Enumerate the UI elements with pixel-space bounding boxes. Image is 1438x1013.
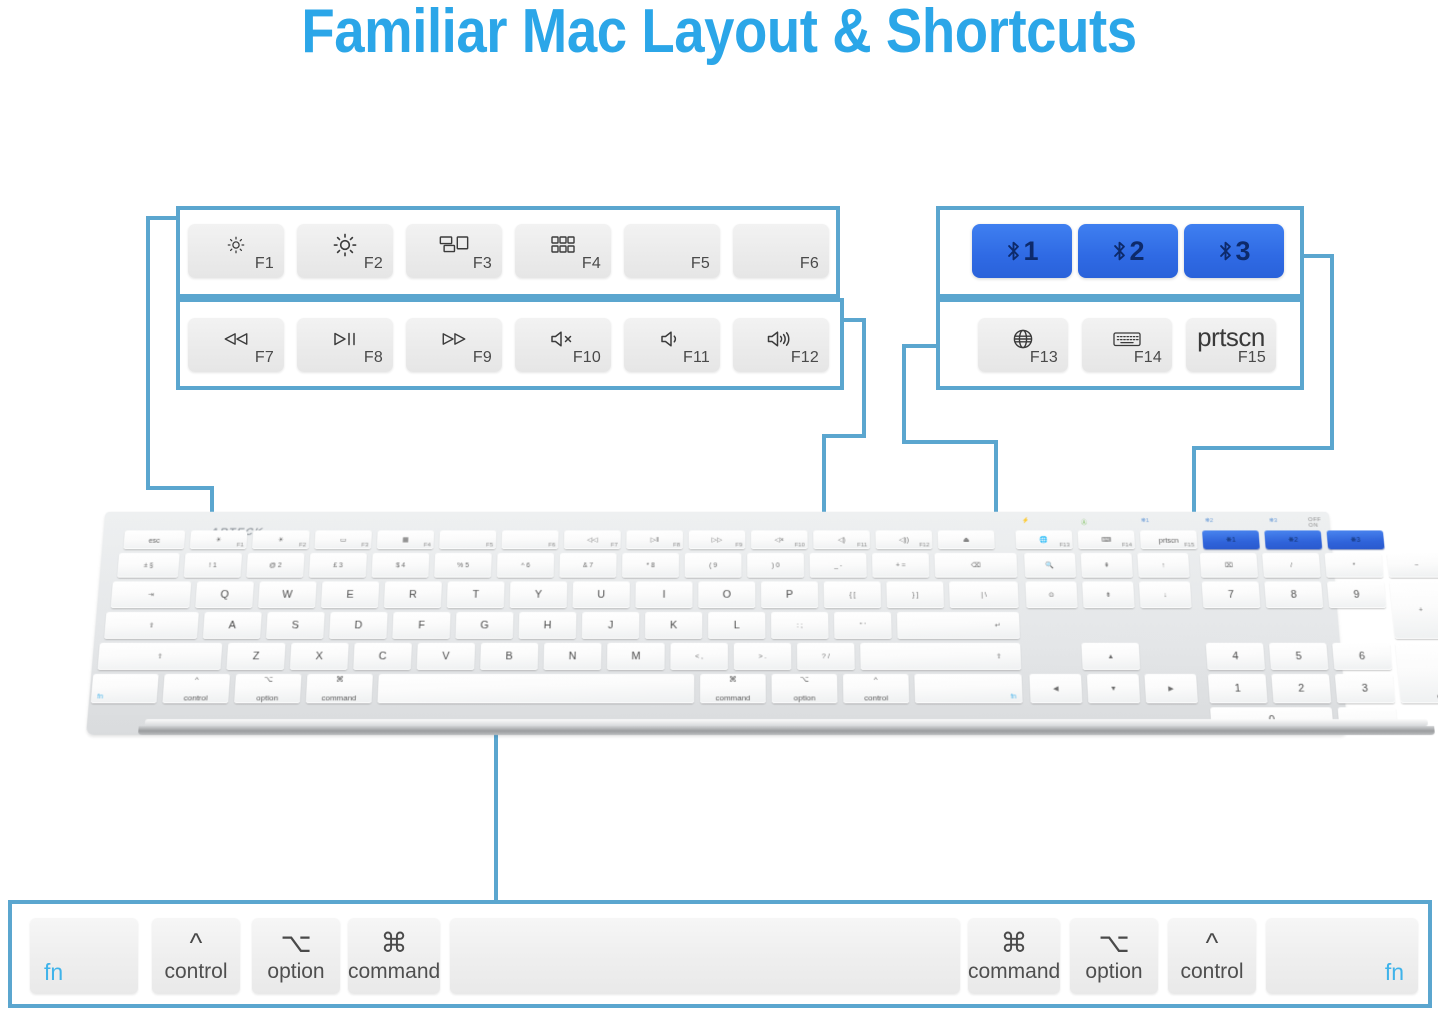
key-bt3-photo[interactable]: ❋3: [1327, 530, 1385, 549]
key-numpad-9[interactable]: 9: [1327, 581, 1386, 608]
bluetooth-icon-2: 2: [1078, 224, 1178, 278]
key-5[interactable]: % 5: [434, 553, 492, 578]
connector-bt-vertical: [1330, 254, 1334, 450]
keyboard-product-image: ARTECK ⚡ Ⓐ ❋1 ❋2 ❋3 OFF ON esc ☀F1 ☀F2 ▭…: [18, 495, 1423, 760]
key-n[interactable]: N: [544, 643, 602, 670]
connector-f13-stub: [902, 344, 940, 348]
key-f14-label: F14: [1134, 349, 1162, 367]
infographic-canvas: Familiar Mac Layout & Shortcuts F1: [0, 0, 1438, 1013]
key-f15-label: F15: [1238, 349, 1266, 367]
key-command-right[interactable]: ⌘ command: [968, 918, 1060, 994]
key-f3-label: F3: [473, 255, 492, 273]
key-f2[interactable]: F2: [297, 224, 393, 278]
key-command-right-label: command: [968, 960, 1060, 984]
key-option-left[interactable]: ⌥ option: [252, 918, 340, 994]
key-control-right-photo[interactable]: ^control: [843, 674, 909, 703]
connector-left-vertical: [146, 216, 150, 490]
key-f5[interactable]: F5: [624, 224, 720, 278]
key-b[interactable]: B: [480, 643, 538, 670]
key-4[interactable]: $ 4: [372, 553, 430, 578]
key-s[interactable]: S: [266, 612, 325, 639]
led-bt2-icon: ❋2: [1199, 517, 1219, 524]
key-backslash[interactable]: | \: [949, 581, 1019, 608]
key-caps-lock[interactable]: ⇪: [104, 612, 199, 639]
key-bracket-left[interactable]: { [: [824, 581, 881, 608]
key-f4-photo[interactable]: ▦F4: [377, 530, 434, 549]
key-h[interactable]: H: [519, 612, 577, 639]
key-f4[interactable]: F4: [515, 224, 611, 278]
key-f2-label: F2: [364, 255, 383, 273]
key-f12-label: F12: [791, 349, 819, 367]
bluetooth-icon-3: 3: [1184, 224, 1284, 278]
key-period[interactable]: > .: [734, 643, 792, 670]
key-semicolon[interactable]: : ;: [771, 612, 828, 639]
key-f6[interactable]: F6: [733, 224, 829, 278]
connector-f13-elbow: [902, 440, 998, 444]
key-option-left-label: option: [252, 960, 340, 984]
key-f11-label: F11: [683, 349, 710, 367]
key-control-left-photo[interactable]: ^control: [162, 674, 230, 703]
keyboard-front-edge-lower: [138, 726, 1435, 735]
key-numpad-4[interactable]: 4: [1206, 643, 1265, 670]
key-f15[interactable]: prtscn F15: [1186, 318, 1276, 372]
key-slash[interactable]: ? /: [797, 643, 855, 670]
key-arrow-down[interactable]: ▼: [1087, 674, 1140, 703]
key-f5-label: F5: [691, 255, 710, 273]
key-option-right-label: option: [1070, 960, 1158, 984]
connector-left-bottom: [146, 486, 214, 490]
key-minus[interactable]: _ -: [810, 553, 867, 578]
callout-bluetooth-keys: 1 2 3: [936, 206, 1304, 298]
page-title: Familiar Mac Layout & Shortcuts: [86, 0, 1351, 67]
connector-f12-vertical: [862, 318, 866, 438]
key-m[interactable]: M: [607, 643, 665, 670]
key-f10-photo[interactable]: ◁×F10: [751, 530, 808, 549]
key-numpad-7[interactable]: 7: [1202, 581, 1261, 608]
key-numpad-clear[interactable]: ⌧: [1200, 553, 1258, 578]
command-icon: ⌘: [348, 930, 440, 957]
key-6[interactable]: ^ 6: [497, 553, 554, 578]
key-fn-left-label: fn: [44, 959, 63, 986]
key-command-right-photo[interactable]: ⌘command: [700, 674, 766, 703]
key-home-arrow[interactable]: ↑: [1137, 553, 1189, 578]
key-eject[interactable]: ⏏: [938, 530, 995, 549]
key-fn-right-label: fn: [1385, 959, 1404, 986]
connector-bt-stub: [1300, 254, 1334, 258]
callout-function-row-3: F13 F14 prtscn F15: [936, 298, 1304, 390]
key-bt2-photo[interactable]: ❋2: [1264, 530, 1322, 549]
key-o[interactable]: O: [698, 581, 755, 608]
key-y[interactable]: Y: [510, 581, 568, 608]
key-numpad-enter[interactable]: enter: [1395, 643, 1438, 704]
key-f15-photo[interactable]: prtscnF15: [1140, 530, 1198, 549]
key-control-left[interactable]: ^ control: [152, 918, 240, 994]
key-command-left-photo[interactable]: ⌘command: [306, 674, 373, 703]
key-f9[interactable]: F9: [406, 318, 502, 372]
bluetooth-key-2-text: 2: [1129, 236, 1144, 267]
key-f13[interactable]: F13: [978, 318, 1068, 372]
key-f[interactable]: F: [392, 612, 450, 639]
key-command-left-label: command: [348, 960, 440, 984]
led-bt3-icon: ❋3: [1263, 517, 1283, 524]
key-fn-right[interactable]: fn: [1266, 918, 1418, 994]
key-control-right[interactable]: ^ control: [1168, 918, 1256, 994]
key-tab[interactable]: ⇥: [111, 581, 192, 608]
key-f7-label: F7: [255, 349, 274, 367]
key-0[interactable]: ) 0: [747, 553, 804, 578]
key-comma[interactable]: < ,: [670, 643, 727, 670]
key-arrow-up[interactable]: ▲: [1081, 643, 1140, 670]
key-option-left-photo[interactable]: ⌥option: [234, 674, 301, 703]
key-f8-label: F8: [364, 349, 383, 367]
bluetooth-key-1-text: 1: [1023, 236, 1038, 267]
key-bracket-right[interactable]: } ]: [886, 581, 944, 608]
key-f9-photo[interactable]: ▷▷F9: [689, 530, 746, 549]
key-f4-label: F4: [582, 255, 601, 273]
key-1[interactable]: ! 1: [184, 553, 242, 578]
led-capslock-icon: Ⓐ: [1075, 517, 1093, 525]
key-bt1-photo[interactable]: ❋1: [1202, 530, 1260, 549]
key-control-left-label: control: [152, 960, 240, 984]
power-switch[interactable]: OFF ON: [1308, 517, 1330, 528]
key-f12-photo[interactable]: ◁))F12: [875, 530, 932, 549]
key-f6-label: F6: [800, 255, 819, 273]
key-g[interactable]: G: [455, 612, 513, 639]
key-search[interactable]: 🔍: [1024, 553, 1076, 578]
key-delete[interactable]: ⌫: [934, 553, 1017, 578]
key-section[interactable]: ± §: [117, 553, 180, 578]
key-7[interactable]: & 7: [559, 553, 616, 578]
key-numpad-plus[interactable]: +: [1390, 581, 1438, 639]
keyboard-chassis: ARTECK ⚡ Ⓐ ❋1 ❋2 ❋3 OFF ON esc ☀F1 ☀F2 ▭…: [86, 512, 1348, 735]
key-p[interactable]: P: [761, 581, 818, 608]
key-f2-photo[interactable]: ☀F2: [252, 530, 310, 549]
key-3[interactable]: £ 3: [309, 553, 367, 578]
key-numpad-5[interactable]: 5: [1269, 643, 1329, 670]
key-return[interactable]: ↵: [897, 612, 1020, 639]
key-w[interactable]: W: [258, 581, 316, 608]
key-numpad-2[interactable]: 2: [1271, 674, 1331, 703]
key-spacebar[interactable]: [450, 918, 960, 994]
key-z[interactable]: Z: [226, 643, 285, 670]
key-f11[interactable]: F11: [624, 318, 720, 372]
key-r[interactable]: R: [384, 581, 442, 608]
key-numpad-1[interactable]: 1: [1208, 674, 1268, 703]
key-u[interactable]: U: [573, 581, 630, 608]
key-shift-right[interactable]: ⇧: [860, 643, 1021, 670]
key-f14-photo[interactable]: ⌨F14: [1078, 530, 1135, 549]
key-8[interactable]: * 8: [622, 553, 679, 578]
key-f14[interactable]: F14: [1082, 318, 1172, 372]
control-caret-icon-right: ^: [1168, 930, 1256, 957]
bluetooth-icon-1: 1: [972, 224, 1072, 278]
key-eject-disc[interactable]: ⊙: [1025, 581, 1077, 608]
connector-f13-vertical: [902, 344, 906, 444]
key-option-right[interactable]: ⌥ option: [1070, 918, 1158, 994]
key-quote[interactable]: " ': [834, 612, 892, 639]
key-page-down[interactable]: ⇟: [1082, 581, 1134, 608]
key-control-right-label: control: [1168, 960, 1256, 984]
option-icon-right: ⌥: [1070, 930, 1158, 957]
key-numpad-divide[interactable]: /: [1262, 553, 1321, 578]
key-fn-left[interactable]: fn: [30, 918, 138, 994]
key-numpad-8[interactable]: 8: [1264, 581, 1323, 608]
key-numpad-multiply[interactable]: *: [1325, 553, 1384, 578]
key-bluetooth-2[interactable]: 2: [1078, 224, 1178, 278]
key-a[interactable]: A: [203, 612, 262, 639]
key-page-up[interactable]: ⇞: [1081, 553, 1133, 578]
key-fn-right-photo[interactable]: fn: [914, 674, 1022, 703]
key-f10-label: F10: [573, 349, 601, 367]
key-f3-photo[interactable]: ▭F3: [314, 530, 371, 549]
key-equals[interactable]: + =: [872, 553, 929, 578]
key-d[interactable]: D: [329, 612, 387, 639]
key-spacebar-photo[interactable]: [377, 674, 694, 703]
key-numpad-6[interactable]: 6: [1332, 643, 1392, 670]
key-f10[interactable]: F10: [515, 318, 611, 372]
callout-function-row-2: F7 F8 F9 F10: [176, 298, 844, 390]
key-f13-photo[interactable]: 🌐F13: [1015, 530, 1072, 549]
key-esc[interactable]: esc: [123, 530, 185, 549]
key-c[interactable]: C: [353, 643, 412, 670]
key-i[interactable]: I: [635, 581, 692, 608]
key-e[interactable]: E: [321, 581, 379, 608]
key-command-left[interactable]: ⌘ command: [348, 918, 440, 994]
option-icon: ⌥: [252, 930, 340, 957]
key-shift-left[interactable]: ⇧: [98, 643, 223, 670]
key-q[interactable]: Q: [195, 581, 254, 608]
key-x[interactable]: X: [290, 643, 349, 670]
key-2[interactable]: @ 2: [246, 553, 304, 578]
key-t[interactable]: T: [447, 581, 505, 608]
command-icon-right: ⌘: [968, 930, 1060, 957]
callout-modifier-row: fn ^ control ⌥ option ⌘ command ⌘ comman…: [8, 900, 1432, 1008]
key-numpad-3[interactable]: 3: [1335, 674, 1395, 703]
key-9[interactable]: ( 9: [685, 553, 742, 578]
key-end-arrow[interactable]: ↓: [1139, 581, 1192, 608]
key-arrow-right[interactable]: ▶: [1144, 674, 1198, 703]
key-f5-photo[interactable]: F5: [439, 530, 496, 549]
key-arrow-left[interactable]: ◀: [1029, 674, 1082, 703]
key-k[interactable]: K: [645, 612, 702, 639]
key-option-right-photo[interactable]: ⌥option: [772, 674, 838, 703]
key-f8-photo[interactable]: ▷‖F8: [626, 530, 683, 549]
key-bluetooth-3[interactable]: 3: [1184, 224, 1284, 278]
key-f1-label: F1: [255, 255, 274, 273]
key-f8[interactable]: F8: [297, 318, 393, 372]
bluetooth-key-3-text: 3: [1235, 236, 1250, 267]
connector-f12-elbow: [822, 434, 866, 438]
key-fn-left-photo[interactable]: fn: [91, 674, 159, 703]
key-f7-photo[interactable]: ◁◁F7: [564, 530, 621, 549]
key-f1-photo[interactable]: ☀F1: [190, 530, 248, 549]
callout-function-row-1: F1 F2 F3: [176, 206, 840, 298]
key-l[interactable]: L: [708, 612, 765, 639]
key-bluetooth-1[interactable]: 1: [972, 224, 1072, 278]
key-j[interactable]: J: [582, 612, 640, 639]
key-f3[interactable]: F3: [406, 224, 502, 278]
connector-bt-elbow: [1192, 446, 1334, 450]
key-f6-photo[interactable]: F6: [502, 530, 559, 549]
led-battery-icon: ⚡: [1017, 517, 1035, 524]
keyboard-front-edge-upper: [145, 719, 1428, 726]
key-f1[interactable]: F1: [188, 224, 284, 278]
key-v[interactable]: V: [417, 643, 475, 670]
key-f11-photo[interactable]: ◁)F11: [813, 530, 870, 549]
key-f7[interactable]: F7: [188, 318, 284, 372]
key-f13-label: F13: [1030, 349, 1058, 367]
key-numpad-minus[interactable]: −: [1387, 553, 1438, 578]
key-f12[interactable]: F12: [733, 318, 829, 372]
led-bt1-icon: ❋1: [1135, 517, 1155, 524]
connector-left-top-stub: [146, 216, 178, 220]
control-caret-icon: ^: [152, 930, 240, 957]
key-f9-label: F9: [473, 349, 492, 367]
